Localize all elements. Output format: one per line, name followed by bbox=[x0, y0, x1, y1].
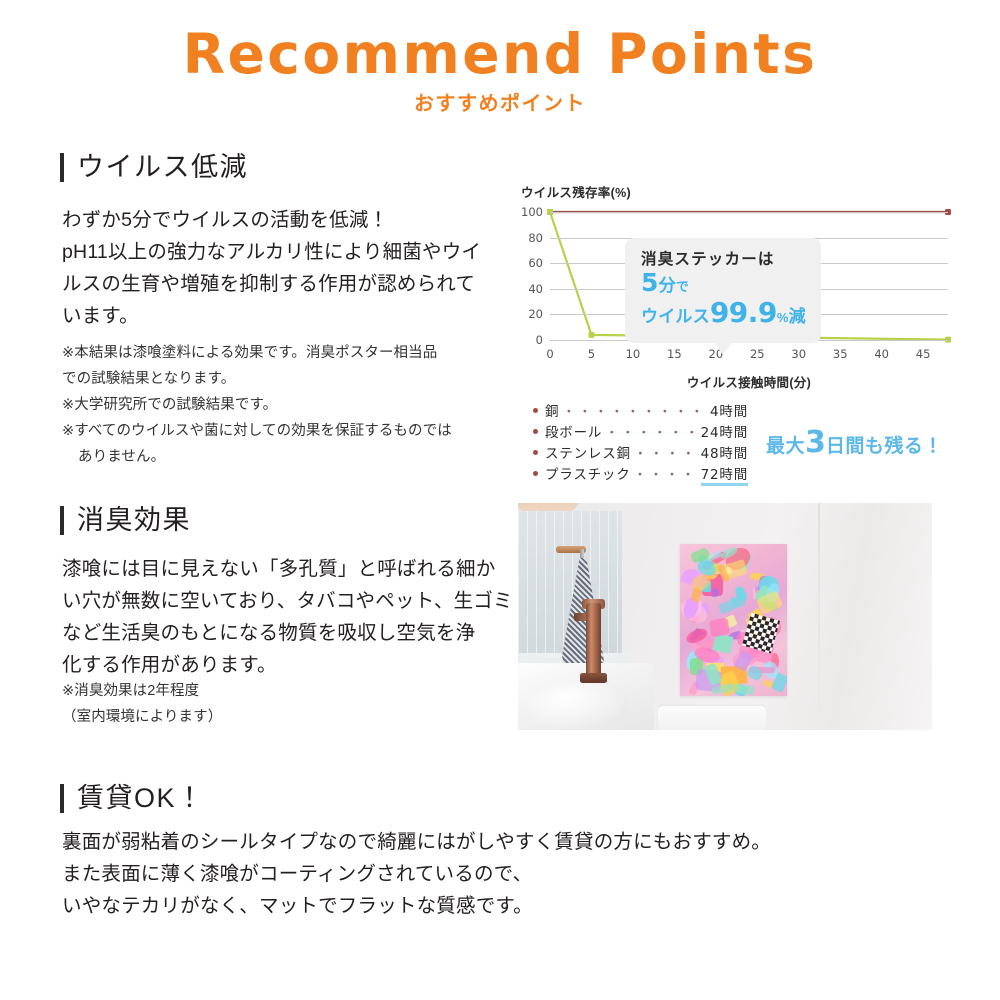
callout-reduce-word: 減 bbox=[789, 307, 806, 326]
legend-material: ステンレス銅 bbox=[545, 442, 631, 462]
callout-line-3: ウイルス99.9%減 bbox=[641, 299, 807, 331]
section-heading-virus-reduction: ウイルス低減 bbox=[60, 152, 248, 182]
section-title: ウイルス低減 bbox=[77, 152, 248, 182]
body-line: など生活臭のもとになる物質を吸収し空気を浄 bbox=[62, 617, 514, 649]
chart-data-point bbox=[588, 332, 594, 338]
note-line: ※大学研究所での試験結果です。 bbox=[62, 392, 512, 418]
legend-leader-dots: ・・・・・・・ bbox=[605, 422, 697, 441]
section-title: 消臭効果 bbox=[77, 505, 191, 535]
chart-y-tick-label: 60 bbox=[528, 256, 543, 270]
legend-row: ステンレス銅 ・・・・・ 48時間 bbox=[533, 442, 748, 463]
body-line: 化する作用があります。 bbox=[62, 649, 514, 681]
legend-leader-dots: ・・・・・・・・・・ bbox=[562, 401, 707, 420]
note-line: ありません。 bbox=[62, 444, 512, 470]
body-line: います。 bbox=[62, 300, 514, 332]
note-line: （室内環境によります） bbox=[62, 704, 514, 730]
page-header: Recommend Points おすすめポイント bbox=[0, 22, 1000, 116]
chart-y-tick-label: 0 bbox=[536, 333, 543, 347]
days-callout-suffix: 日間も残る！ bbox=[826, 436, 943, 457]
chart-x-axis-title: ウイルス接触時間(分) bbox=[550, 372, 948, 391]
page-subtitle: おすすめポイント bbox=[0, 92, 1000, 116]
chart-x-tick-label: 15 bbox=[667, 347, 682, 361]
section-notes-deodorizing: ※消臭効果は2年程度 （室内環境によります） bbox=[62, 678, 514, 730]
chart-x-tick-label: 5 bbox=[588, 347, 595, 361]
legend-row: 段ボール ・・・・・・・ 24時間 bbox=[533, 421, 748, 442]
chart-x-tick-label: 35 bbox=[833, 347, 848, 361]
body-line: い穴が無数に空いており、タバコやペット、生ゴミ bbox=[62, 585, 514, 617]
chart-y-axis-title: ウイルス残存率(%) bbox=[521, 182, 631, 201]
photo-faucet-base bbox=[580, 673, 607, 683]
callout-percent-unit: % bbox=[777, 310, 789, 325]
chart-x-tick-label: 40 bbox=[874, 347, 889, 361]
chart-gridline bbox=[550, 212, 948, 213]
note-line: ※消臭効果は2年程度 bbox=[62, 678, 514, 704]
photo-wall-edge bbox=[818, 503, 820, 730]
poster-sticker bbox=[708, 617, 729, 637]
legend-row: 銅 ・・・・・・・・・・ 4時間 bbox=[533, 400, 748, 421]
legend-material: 段ボール bbox=[545, 421, 602, 441]
legend-duration-highlighted: 72時間 bbox=[701, 463, 748, 486]
body-line: ルスの生育や増殖を抑制する作用が認められて bbox=[62, 268, 514, 300]
bullet-dot-icon bbox=[533, 408, 538, 413]
legend-duration: 48時間 bbox=[701, 442, 748, 462]
photo-sticker-poster bbox=[680, 544, 787, 696]
section-heading-rental-ok: 賃貸OK！ bbox=[60, 783, 205, 813]
note-line: での試験結果となります。 bbox=[62, 366, 512, 392]
bullet-dot-icon bbox=[533, 450, 538, 455]
chart-x-tick-label: 45 bbox=[916, 347, 931, 361]
days-callout-number: 3 bbox=[805, 425, 826, 460]
chart-y-tick-label: 20 bbox=[528, 307, 543, 321]
chart-x-tick-label: 10 bbox=[626, 347, 641, 361]
photo-toilet-tank bbox=[658, 706, 766, 730]
section-body-deodorizing: 漆喰には目に見えない「多孔質」と呼ばれる細か い穴が無数に空いており、タバコやペ… bbox=[62, 553, 514, 681]
chart-callout-bubble: 消臭ステッカーは 5分で ウイルス99.9%減 bbox=[625, 238, 821, 343]
legend-material: プラスチック bbox=[545, 463, 631, 483]
section-title: 賃貸OK！ bbox=[77, 783, 205, 813]
bullet-dot-icon bbox=[533, 429, 538, 434]
body-line: わずか5分でウイルスの活動を低減！ bbox=[62, 204, 514, 236]
bathroom-poster-photo bbox=[518, 503, 932, 730]
chart-y-tick-label: 100 bbox=[521, 205, 543, 219]
note-line: ※本結果は漆喰塗料による効果です。消臭ポスター相当品 bbox=[62, 340, 512, 366]
body-line: また表面に薄く漆喰がコーティングされているので、 bbox=[62, 858, 842, 890]
survival-time-legend: 銅 ・・・・・・・・・・ 4時間 段ボール ・・・・・・・ 24時間 ステンレス… bbox=[533, 400, 748, 484]
infographic-page: Recommend Points おすすめポイント ウイルス低減 わずか5分でウ… bbox=[0, 0, 1000, 1000]
heading-bar-icon bbox=[60, 784, 64, 813]
legend-leader-dots: ・・・・・ bbox=[634, 464, 698, 483]
section-heading-deodorizing: 消臭効果 bbox=[60, 505, 191, 535]
section-notes-virus-reduction: ※本結果は漆喰塗料による効果です。消臭ポスター相当品 での試験結果となります。 … bbox=[62, 340, 512, 470]
section-body-virus-reduction: わずか5分でウイルスの活動を低減！ pH11以上の強力なアルカリ性により細菌やウ… bbox=[62, 204, 514, 332]
poster-sticker bbox=[711, 587, 719, 596]
legend-duration: 24時間 bbox=[701, 421, 748, 441]
section-body-rental-ok: 裏面が弱粘着のシールタイプなので綺麗にはがしやすく賃貸の方にもおすすめ。 また表… bbox=[62, 826, 842, 922]
body-line: 裏面が弱粘着のシールタイプなので綺麗にはがしやすく賃貸の方にもおすすめ。 bbox=[62, 826, 842, 858]
heading-bar-icon bbox=[60, 506, 64, 535]
poster-sticker bbox=[735, 683, 755, 694]
chart-x-tick-label: 30 bbox=[791, 347, 806, 361]
callout-minutes-suffix: で bbox=[676, 279, 689, 294]
days-callout-prefix: 最大 bbox=[766, 436, 805, 457]
legend-material: 銅 bbox=[545, 400, 559, 420]
note-line: ※すべてのウイルスや菌に対しての効果を保証するものでは bbox=[62, 418, 512, 444]
chart-x-tick-label: 25 bbox=[750, 347, 765, 361]
callout-minutes-unit: 分 bbox=[659, 276, 676, 295]
legend-row: プラスチック ・・・・・ 72時間 bbox=[533, 463, 748, 484]
body-line: 漆喰には目に見えない「多孔質」と呼ばれる細か bbox=[62, 553, 514, 585]
callout-percent: 99.9 bbox=[710, 296, 777, 329]
max-days-callout: 最大3日間も残る！ bbox=[766, 428, 943, 462]
callout-line-1: 消臭ステッカーは bbox=[641, 249, 807, 271]
bullet-dot-icon bbox=[533, 471, 538, 476]
page-title: Recommend Points bbox=[0, 22, 1000, 86]
body-line: いやなテカリがなく、マットでフラットな質感です。 bbox=[62, 890, 842, 922]
chart-x-tick-label: 0 bbox=[546, 347, 553, 361]
callout-line-2: 5分で bbox=[641, 271, 807, 299]
chart-y-tick-label: 40 bbox=[528, 282, 543, 296]
legend-leader-dots: ・・・・・ bbox=[634, 443, 698, 462]
callout-minutes: 5 bbox=[641, 268, 659, 297]
legend-duration: 4時間 bbox=[710, 400, 748, 420]
photo-faucet-body bbox=[586, 603, 601, 681]
body-line: pH11以上の強力なアルカリ性により細菌やウイ bbox=[62, 236, 514, 268]
chart-y-tick-label: 80 bbox=[528, 231, 543, 245]
heading-bar-icon bbox=[60, 153, 64, 182]
callout-virus-word: ウイルス bbox=[641, 307, 710, 326]
